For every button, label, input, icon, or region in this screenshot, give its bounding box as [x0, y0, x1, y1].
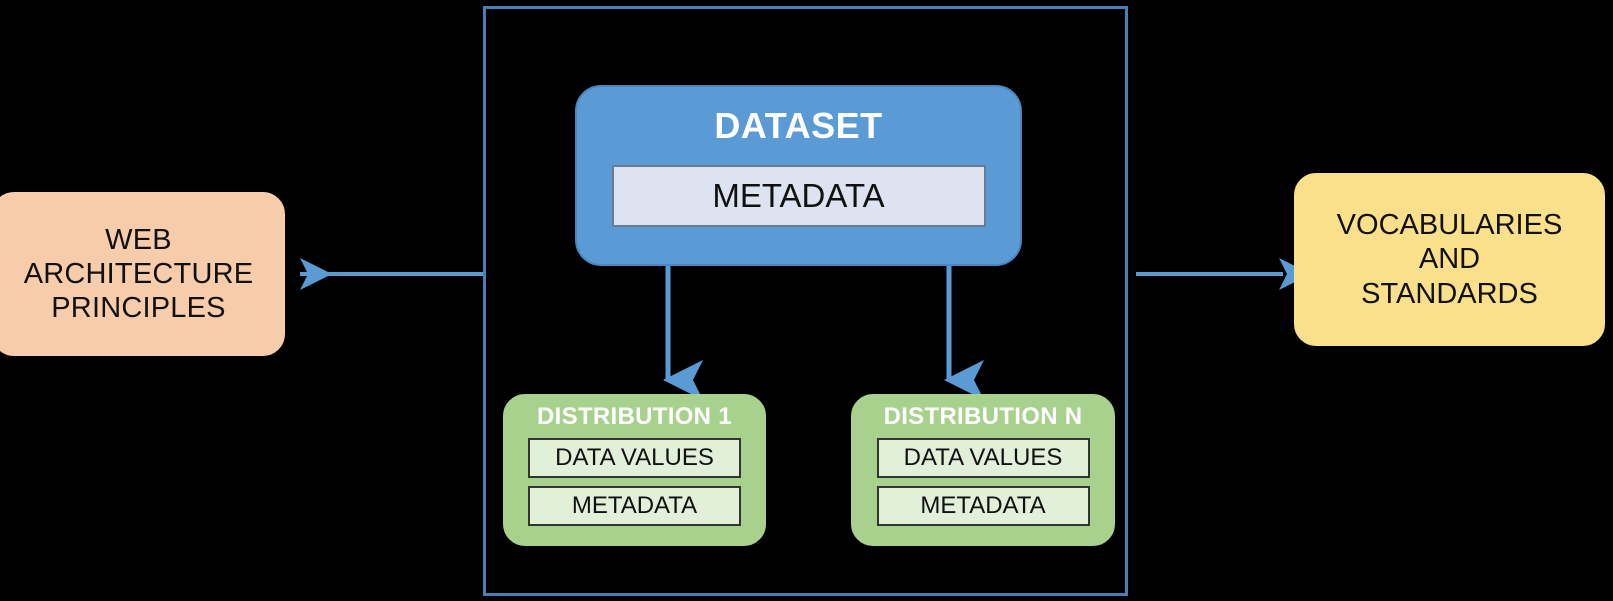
- distribution-n-title: DISTRIBUTION N: [884, 403, 1083, 431]
- distribution-1-data-values-box[interactable]: DATA VALUES: [528, 438, 741, 478]
- node-vocabularies-and-standards[interactable]: VOCABULARIES AND STANDARDS: [1294, 173, 1605, 346]
- distribution-n-data-values-box[interactable]: DATA VALUES: [877, 438, 1090, 478]
- node-web-architecture-principles[interactable]: WEB ARCHITECTURE PRINCIPLES: [0, 192, 285, 356]
- distribution-1-title: DISTRIBUTION 1: [537, 403, 732, 431]
- distribution-1-metadata-label: METADATA: [572, 492, 697, 520]
- dataset-title: DATASET: [714, 105, 882, 147]
- diagram-canvas: WEB ARCHITECTURE PRINCIPLES VOCABULARIES…: [0, 0, 1613, 601]
- node-distribution-1[interactable]: DISTRIBUTION 1 DATA VALUES METADATA: [503, 394, 766, 546]
- node-web-line-3: PRINCIPLES: [51, 291, 225, 325]
- distribution-n-metadata-label: METADATA: [920, 492, 1045, 520]
- dataset-metadata-box[interactable]: METADATA: [612, 165, 986, 227]
- dataset-metadata-label: METADATA: [712, 177, 884, 216]
- node-web-line-1: WEB: [105, 223, 172, 257]
- distribution-n-data-values-label: DATA VALUES: [904, 444, 1063, 472]
- node-dataset[interactable]: DATASET METADATA: [575, 85, 1022, 266]
- distribution-n-metadata-box[interactable]: METADATA: [877, 486, 1090, 526]
- distribution-1-metadata-box[interactable]: METADATA: [528, 486, 741, 526]
- node-vocab-line-1: VOCABULARIES: [1337, 208, 1563, 242]
- node-distribution-n[interactable]: DISTRIBUTION N DATA VALUES METADATA: [851, 394, 1115, 546]
- node-web-line-2: ARCHITECTURE: [24, 257, 254, 291]
- node-vocab-line-2: AND: [1419, 242, 1480, 276]
- node-vocab-line-3: STANDARDS: [1361, 277, 1538, 311]
- distribution-1-data-values-label: DATA VALUES: [555, 444, 714, 472]
